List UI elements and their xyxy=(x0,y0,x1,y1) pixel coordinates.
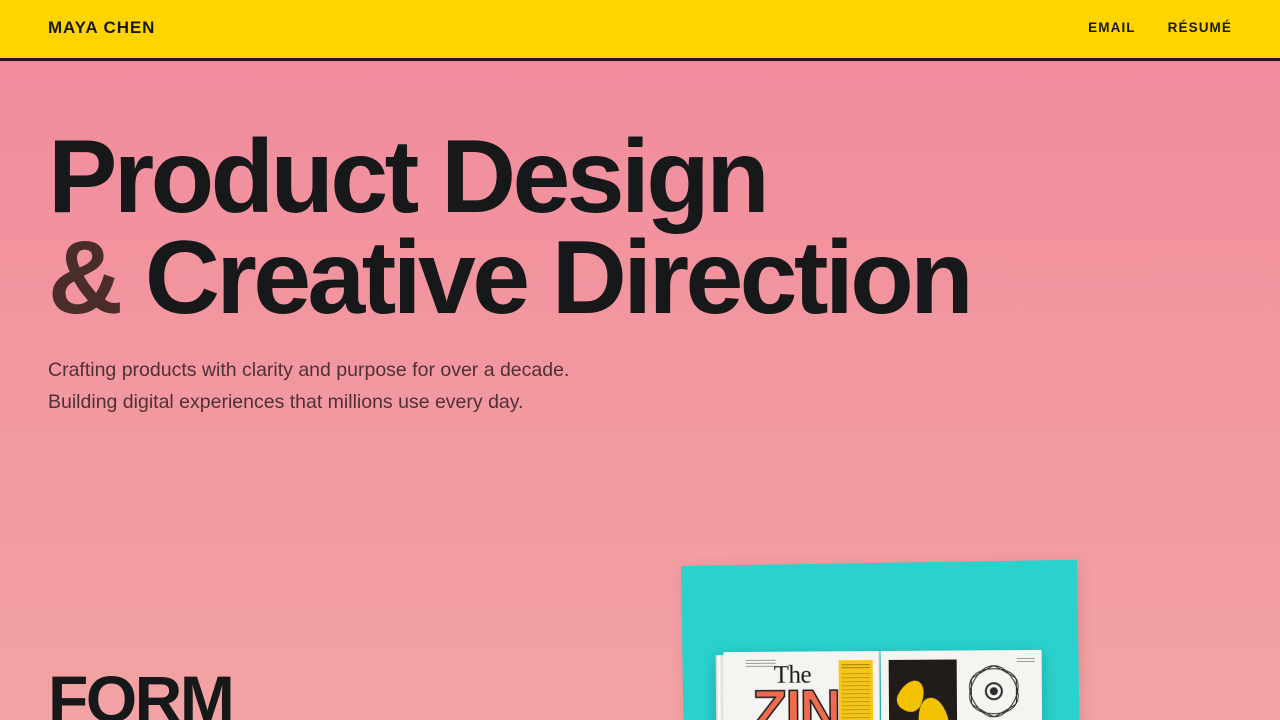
magazine-yellow-sidebar xyxy=(839,660,874,720)
magazine-right-page xyxy=(881,650,1043,720)
nav-link-email[interactable]: EMAIL xyxy=(1088,20,1136,35)
headline-ampersand: & xyxy=(48,220,120,336)
hero-subtitle-line-1: Crafting products with clarity and purpo… xyxy=(48,354,569,386)
magazine-sidebar-body xyxy=(842,673,871,720)
atom-diagram-icon xyxy=(971,668,1017,714)
hero-subtitle-line-2: Building digital experiences that millio… xyxy=(48,386,569,418)
magazine-left-page: The ZIN xyxy=(724,651,881,720)
primary-navigation: EMAIL RÉSUMÉ xyxy=(1088,20,1232,35)
headline-line-2-text: Creative Direction xyxy=(145,220,970,336)
magazine-sidebar-heading xyxy=(842,664,870,670)
site-logo[interactable]: MAYA CHEN xyxy=(48,18,155,38)
magazine-spread: The ZIN xyxy=(724,650,1043,720)
headline-line-1: Product Design xyxy=(48,127,970,228)
magazine-dark-panel xyxy=(889,659,958,720)
atom-nucleus xyxy=(987,684,1001,698)
nav-link-resume[interactable]: RÉSUMÉ xyxy=(1168,20,1232,35)
portfolio-landing-page: MAYA CHEN EMAIL RÉSUMÉ Product Design & … xyxy=(0,0,1280,720)
hero-subtitle: Crafting products with clarity and purpo… xyxy=(48,354,569,418)
work-showcase-image[interactable]: The ZIN xyxy=(681,566,1077,720)
page-title: Product Design & Creative Direction xyxy=(48,127,970,329)
section-heading-form: FORM xyxy=(48,666,232,720)
site-header: MAYA CHEN EMAIL RÉSUMÉ xyxy=(0,0,1280,61)
headline-line-2: & Creative Direction xyxy=(48,228,970,329)
magazine-title-display: ZIN xyxy=(752,682,840,720)
magazine-folio xyxy=(1017,658,1035,663)
magazine-kicker-text xyxy=(746,660,776,667)
